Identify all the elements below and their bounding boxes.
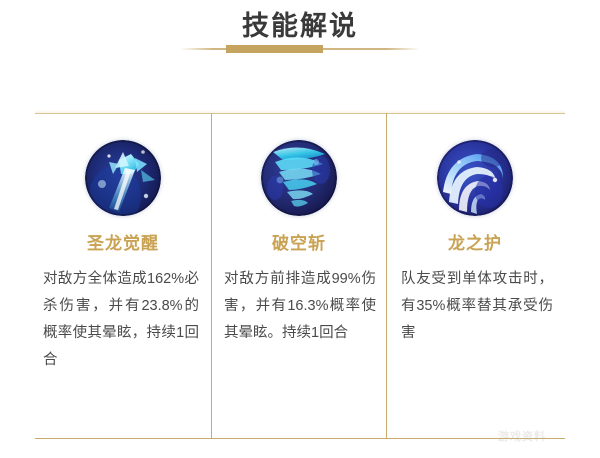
watermark: 游戏资料 [498,428,546,444]
skills-panel: 圣龙觉醒 对敌方全体造成162%必杀伤害，并有23.8%的概率使其晕眩，持续1回… [35,104,565,440]
skill-card-3[interactable]: 龙之护 队友受到单体攻击时，有35%概率替其承受伤害 [387,113,563,438]
skill-guide-page: 技能解说 [0,0,600,458]
skill-name-1: 圣龙觉醒 [35,233,211,255]
skill-description-3: 队友受到单体攻击时，有35%概率替其承受伤害 [401,266,553,347]
skill-icon-holy-dragon-awakening [85,140,161,216]
skill-description-2: 对敌方前排造成99%伤害，并有16.3%概率使其晕眩。持续1回合 [224,266,376,347]
skill-icon-sky-breaking-slash [261,140,337,216]
skill-name-2: 破空斩 [212,233,386,255]
skill-columns: 圣龙觉醒 对敌方全体造成162%必杀伤害，并有23.8%的概率使其晕眩，持续1回… [35,113,565,438]
skill-name-3: 龙之护 [387,233,563,255]
skill-description-1: 对敌方全体造成162%必杀伤害，并有23.8%的概率使其晕眩，持续1回合 [43,266,199,374]
skill-card-2[interactable]: 破空斩 对敌方前排造成99%伤害，并有16.3%概率使其晕眩。持续1回合 [211,113,387,438]
page-header: 技能解说 [0,0,600,66]
title-divider [180,44,420,54]
title-divider-bar [226,45,323,53]
page-title: 技能解说 [0,9,600,43]
skill-card-1[interactable]: 圣龙觉醒 对敌方全体造成162%必杀伤害，并有23.8%的概率使其晕眩，持续1回… [35,113,211,438]
panel-bottom-rule [35,438,565,439]
skill-icon-dragon-guard [437,140,513,216]
